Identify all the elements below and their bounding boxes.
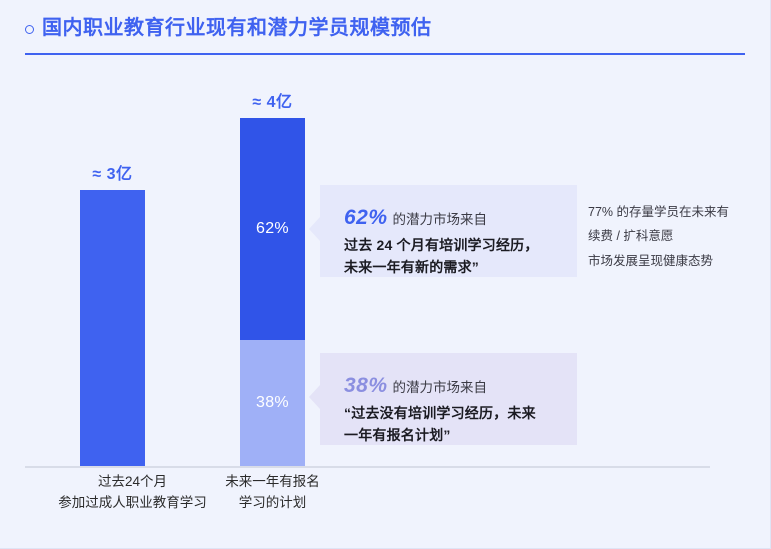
header: 国内职业教育行业现有和潜力学员规模预估 (25, 18, 745, 56)
circle-outline-icon (25, 25, 34, 34)
callout-62-lead: 的潜力市场来自 (393, 212, 488, 227)
callout-62-body-line2: 未来一年有新的需求” (344, 256, 557, 278)
callout-62: 62%的潜力市场来自 过去 24 个月有培训学习经历， 未来一年有新的需求” (320, 185, 577, 277)
bar-1[interactable] (80, 190, 145, 466)
sidenote: 77% 的存量学员在未来有 续费 / 扩科意愿 市场发展呈现健康态势 (588, 200, 763, 273)
callout-38-percent: 38% (344, 374, 388, 397)
sidenote-line2: 续费 / 扩科意愿 (588, 224, 763, 248)
x-axis-line (25, 466, 710, 468)
bar-2[interactable]: 62% 38% (240, 118, 305, 466)
slide-root: 国内职业教育行业现有和潜力学员规模预估 ≈ 3亿 过去24个月 参加过成人职业教… (0, 0, 770, 548)
title-row: 国内职业教育行业现有和潜力学员规模预估 (25, 18, 745, 38)
page-title: 国内职业教育行业现有和潜力学员规模预估 (42, 18, 432, 38)
bar-2-category-line1: 未来一年有报名 (190, 472, 355, 493)
bar-2-segment-top-label: 62% (256, 220, 289, 238)
callout-38: 38%的潜力市场来自 “过去没有培训学习经历，未来 一年有报名计划” (320, 353, 577, 445)
callout-38-body-line2: 一年有报名计划” (344, 424, 557, 446)
callout-38-pointer-icon (309, 385, 320, 409)
bar-2-segment-bottom-label: 38% (256, 394, 289, 412)
bar-2-segment-bottom[interactable]: 38% (240, 340, 305, 466)
sidenote-line3: 市场发展呈现健康态势 (588, 249, 763, 273)
bar-2-category-line2: 学习的计划 (190, 493, 355, 514)
bar-1-value-label: ≈ 3亿 (80, 160, 145, 184)
callout-62-headline: 62%的潜力市场来自 (344, 201, 557, 234)
sidenote-line1: 77% 的存量学员在未来有 (588, 200, 763, 224)
callout-38-body-line1: “过去没有培训学习经历，未来 (344, 402, 557, 424)
callout-62-percent: 62% (344, 206, 388, 229)
bar-2-segment-top[interactable]: 62% (240, 118, 305, 340)
bar-2-category-label: 未来一年有报名 学习的计划 (190, 472, 355, 514)
callout-38-lead: 的潜力市场来自 (393, 380, 488, 395)
callout-62-pointer-icon (309, 217, 320, 241)
bar-2-value-label: ≈ 4亿 (240, 88, 305, 112)
header-divider (25, 53, 745, 55)
callout-38-headline: 38%的潜力市场来自 (344, 369, 557, 402)
callout-62-body-line1: 过去 24 个月有培训学习经历， (344, 234, 557, 256)
